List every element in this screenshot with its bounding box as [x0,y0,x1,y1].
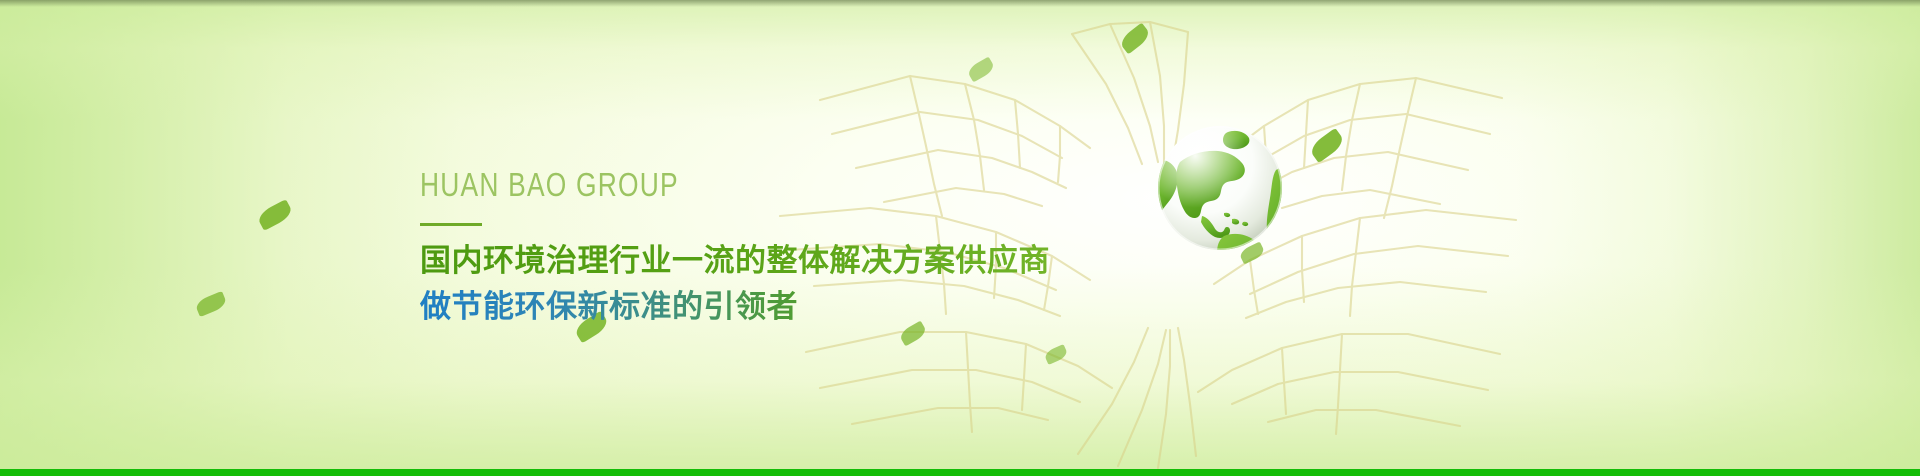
globe-icon [1150,118,1290,258]
banner-headline-line-2: 做节能环保新标准的引领者 [420,284,1140,330]
banner-eyebrow: HUAN BAO GROUP [420,168,996,201]
bottom-accent-bar [0,469,1920,476]
accent-rule [420,223,482,226]
banner-headline-line-1: 国内环境治理行业一流的整体解决方案供应商 [420,238,1140,284]
banner-copy: HUAN BAO GROUP 国内环境治理行业一流的整体解决方案供应商 做节能环… [420,168,1140,330]
hero-banner: HUAN BAO GROUP 国内环境治理行业一流的整体解决方案供应商 做节能环… [0,0,1920,476]
